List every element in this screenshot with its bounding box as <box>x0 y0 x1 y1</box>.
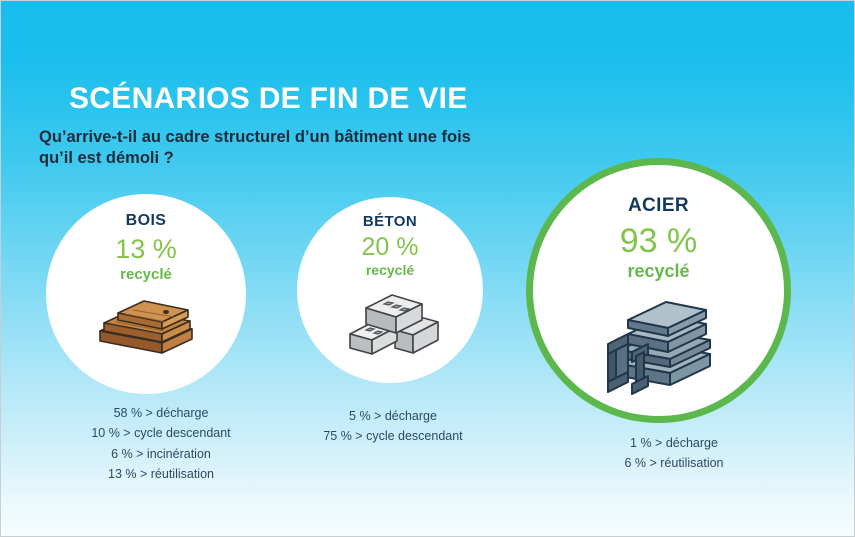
breakdown-list-bois: 58 % > décharge 10 % > cycle descendant … <box>61 403 261 484</box>
material-name-acier: ACIER <box>628 195 689 217</box>
page-subtitle: Qu’arrive-t-il au cadre structurel d’un … <box>39 127 509 171</box>
breakdown-item: 75 % > cycle descendant <box>293 426 493 446</box>
material-circle-beton: BÉTON 20 % recyclé <box>297 197 483 383</box>
breakdown-item: 58 % > décharge <box>61 403 261 423</box>
wood-planks-icon <box>92 291 200 357</box>
page-title: SCÉNARIOS DE FIN DE VIE <box>69 83 589 115</box>
breakdown-item: 1 % > décharge <box>574 433 774 453</box>
material-circle-acier: ACIER 93 % recyclé <box>526 158 791 423</box>
breakdown-item: 13 % > réutilisation <box>61 464 261 484</box>
header: SCÉNARIOS DE FIN DE VIE Qu’arrive-t-il a… <box>69 83 589 170</box>
material-circle-bois: BOIS 13 % recyclé <box>46 194 246 394</box>
breakdown-item: 6 % > réutilisation <box>574 453 774 473</box>
steel-beams-icon <box>598 292 720 396</box>
material-name-bois: BOIS <box>126 212 167 230</box>
breakdown-item: 10 % > cycle descendant <box>61 423 261 443</box>
material-percent-acier: 93 % <box>620 224 698 258</box>
end-of-life-scenarios-infographic: SCÉNARIOS DE FIN DE VIE Qu’arrive-t-il a… <box>0 0 855 537</box>
material-name-beton: BÉTON <box>363 213 417 230</box>
material-percent-beton: 20 % <box>362 235 419 260</box>
concrete-blocks-icon <box>340 286 440 360</box>
material-recycled-label-acier: recyclé <box>627 261 689 282</box>
material-percent-bois: 13 % <box>115 236 177 263</box>
material-recycled-label-beton: recyclé <box>366 262 414 278</box>
breakdown-list-acier: 1 % > décharge 6 % > réutilisation <box>574 433 774 474</box>
breakdown-item: 5 % > décharge <box>293 406 493 426</box>
breakdown-item: 6 % > incinération <box>61 444 261 464</box>
material-recycled-label-bois: recyclé <box>120 266 172 283</box>
breakdown-list-beton: 5 % > décharge 75 % > cycle descendant <box>293 406 493 447</box>
